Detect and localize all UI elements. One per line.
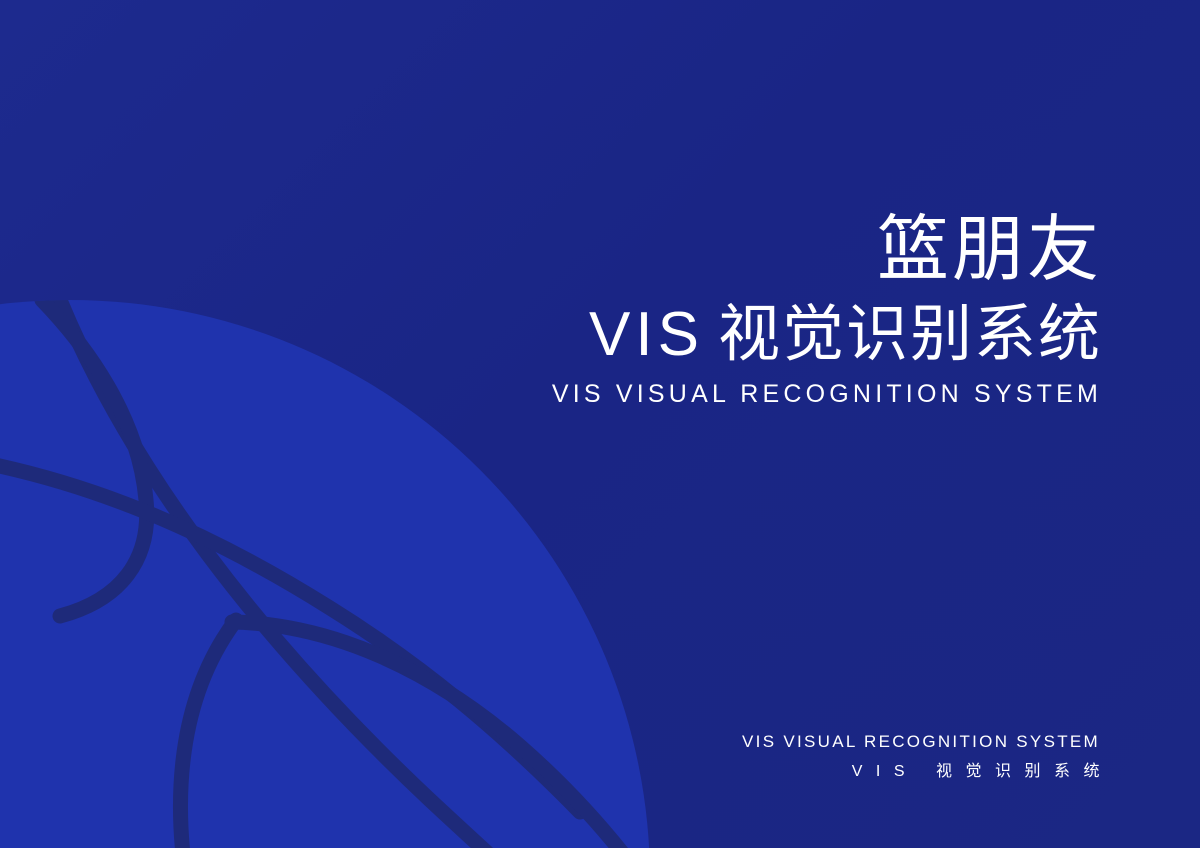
page-title-cn: 视觉识别系统	[718, 304, 1102, 366]
page-title: VIS 视觉识别系统	[552, 304, 1102, 366]
brand-name-cn: 篮朋友	[552, 214, 1102, 286]
basketball-graphic	[0, 0, 1200, 848]
footer-line-en: VIS VISUAL RECOGNITION SYSTEM	[742, 732, 1100, 752]
page-title-latin: VIS	[589, 304, 718, 366]
footer-line-cn: VIS 视觉识别系统	[742, 757, 1113, 781]
cover-page: 篮朋友 VIS 视觉识别系统 VIS VISUAL RECOGNITION SY…	[0, 0, 1200, 848]
footer-block: VIS VISUAL RECOGNITION SYSTEM VIS 视觉识别系统	[742, 732, 1100, 781]
title-block: 篮朋友 VIS 视觉识别系统 VIS VISUAL RECOGNITION SY…	[552, 214, 1102, 409]
page-subtitle-en: VIS VISUAL RECOGNITION SYSTEM	[552, 380, 1102, 409]
